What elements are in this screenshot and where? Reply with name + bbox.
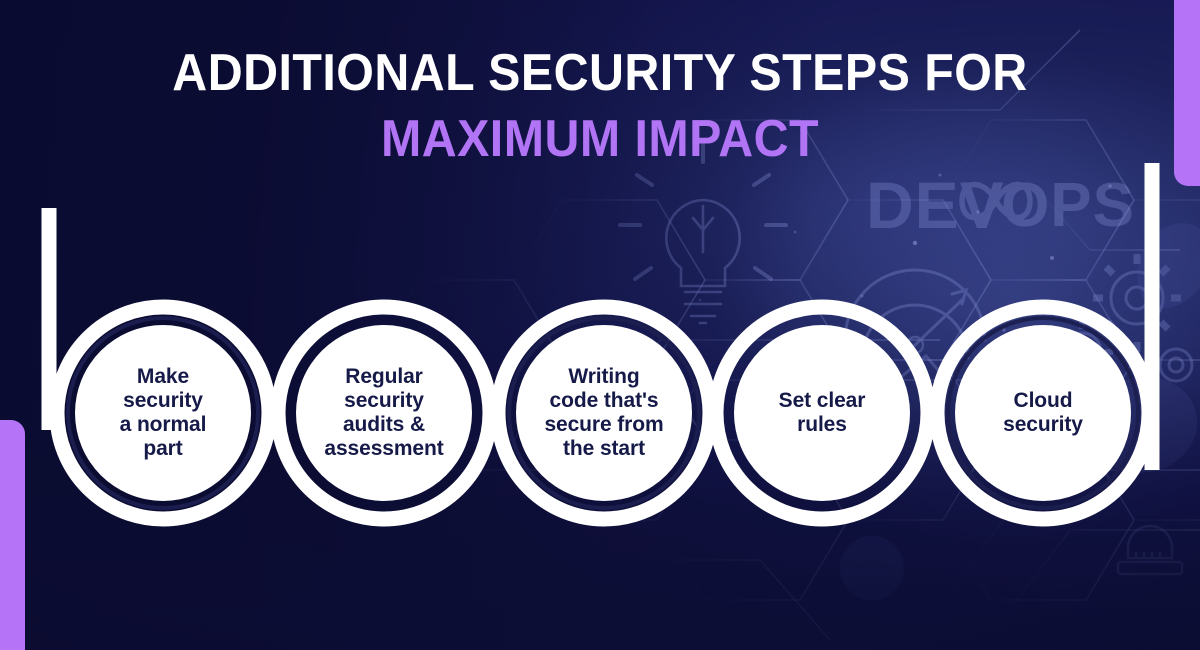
step-disc-4	[734, 325, 910, 501]
step-disc-3	[516, 325, 692, 501]
steps-chain	[0, 0, 1200, 650]
step-disc-5	[955, 325, 1131, 501]
infographic-canvas: DEV OPS ADDITIONAL SECURITY STEPS FOR MA…	[0, 0, 1200, 650]
step-disc-1	[75, 325, 251, 501]
step-disc-2	[296, 325, 472, 501]
